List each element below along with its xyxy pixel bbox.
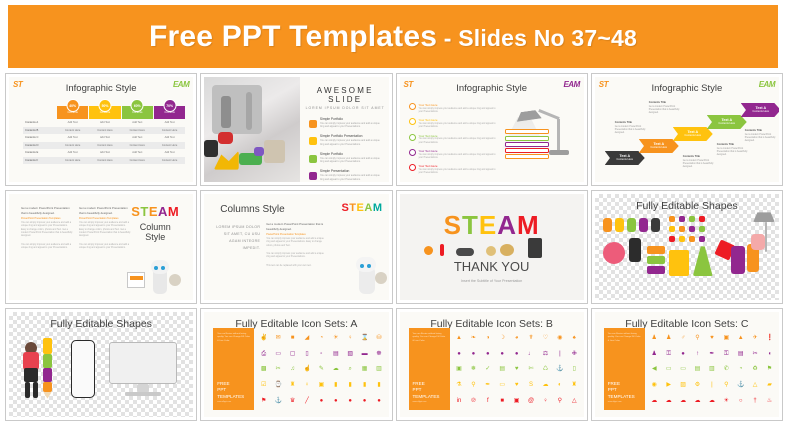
infographic-table: 40%Contents 50%Contents 60%Contents 70%C… xyxy=(23,99,185,164)
icon-row: in℗f■▣@♀⚲△ xyxy=(456,393,578,409)
icon-glyph: ▮ xyxy=(361,382,368,389)
icon-glyph: ↑ xyxy=(694,351,701,358)
icon-glyph: ✆ xyxy=(723,366,730,373)
table-row: Contents AAdd TextAdd TextAdd TextAdd Te… xyxy=(23,119,185,127)
icon-glyph: ✈ xyxy=(752,335,759,342)
slide-canvas-1: ST EAM Infographic Style 40%Contents 50%… xyxy=(9,77,193,182)
icon-row: ◉▶▨⚙❘⚲⚓△▰ xyxy=(651,378,773,394)
icon-glyph: in xyxy=(456,398,463,405)
free-ppt-panel: You can Resize without losing quality. Y… xyxy=(604,328,645,410)
icon-glyph: ⚲ xyxy=(723,382,730,389)
slide-thumbnail-3[interactable]: ST EAM Infographic Style Your Text HereY… xyxy=(396,73,588,186)
book-stack-icon xyxy=(505,129,549,160)
bullet-icon xyxy=(409,164,416,171)
icon-glyph: ✎ xyxy=(318,366,325,373)
panel-brand: FREE PPT TEMPLATES www.allppt.com xyxy=(217,381,244,404)
icon-glyph: ▯ xyxy=(571,366,578,373)
table-row: Contents EAdd TextAdd TextAdd TextAdd Te… xyxy=(23,149,185,157)
icon-glyph: ▥ xyxy=(708,366,715,373)
slide-thumbnail-9[interactable]: Fully Editable Shapes xyxy=(5,308,197,421)
table-row: Contents BContent HereContent HereConten… xyxy=(23,127,185,135)
icon-glyph: ⚿ xyxy=(665,351,672,358)
icon-glyph: ♀ xyxy=(542,398,549,405)
slide-canvas-12: Fully Editable Icon Sets: C You can Resi… xyxy=(595,312,779,417)
step-note: Contents TitleGet a modern PowerPoint Pr… xyxy=(649,101,685,115)
icon-glyph: ◔ xyxy=(737,366,744,373)
bullet-icon xyxy=(409,118,416,125)
process-step: Text AContents Here xyxy=(741,103,779,117)
list-item: Your Text HereYou can simply impress you… xyxy=(409,103,497,114)
feature-icon xyxy=(309,120,317,128)
list-item: Simple PortfolioYou can simply impress y… xyxy=(309,152,382,164)
icon-glyph: ♛ xyxy=(289,398,296,405)
process-step: Text AContents Here xyxy=(707,115,747,129)
steam-wordmark-3d: STEAM xyxy=(400,210,584,241)
icon-glyph: ⚑ xyxy=(260,398,267,405)
icon-glyph: ⚑ xyxy=(766,366,773,373)
icon-glyph: ❘ xyxy=(708,382,715,389)
bullet-icon xyxy=(409,103,416,110)
icon-row: ⎙▭▢▯▫▤▧▬☸ xyxy=(260,346,382,362)
list-item: Your Text HereYou can simply impress you… xyxy=(409,134,497,145)
icon-glyph: ♥ xyxy=(513,382,520,389)
icon-glyph: ● xyxy=(470,351,477,358)
table-column-header: 40%Contents xyxy=(57,106,88,119)
process-step: Text AContents Here xyxy=(605,151,645,165)
icon-glyph: ☝ xyxy=(303,366,310,373)
icon-glyph: ♠ xyxy=(571,335,578,342)
icon-glyph: ✙ xyxy=(571,351,578,358)
page-root: Free PPT Templates - Slides No 37~48 ST … xyxy=(0,0,786,423)
slide-title: Columns Style xyxy=(220,204,284,215)
table-header-row: 40%Contents 50%Contents 60%Contents 70%C… xyxy=(57,99,185,119)
icon-glyph: ◕ xyxy=(513,335,520,342)
icon-glyph: ▣ xyxy=(723,335,730,342)
icon-grid: ♟♟♂⚲♥▣▲✈❗ ♟⚿●↑✒⚿▤✂◖ ◀▭▭▤▥✆◔♻⚑ ◉▶▨⚙❘⚲⚓△▰ … xyxy=(651,331,773,409)
icon-glyph: △ xyxy=(752,382,759,389)
icon-glyph: ☁ xyxy=(651,398,658,405)
thank-you-text: THANK YOU xyxy=(400,259,584,274)
icon-glyph: ♺ xyxy=(542,366,549,373)
slide-canvas-7: STEAM THANK YOU Insert the Subtitle of Y… xyxy=(400,194,584,299)
icon-glyph: ▬ xyxy=(361,351,368,358)
slide-thumbnail-8[interactable]: Fully Editable Shapes xyxy=(591,190,783,303)
icon-glyph: ♜ xyxy=(571,382,578,389)
icon-glyph: ▤ xyxy=(694,366,701,373)
slide-title: AWESOME SLIDE xyxy=(302,86,389,104)
table-row: Contents FContent HereContent HereConten… xyxy=(23,157,185,165)
icon-glyph: ◐ xyxy=(556,382,563,389)
icon-glyph: ❗ xyxy=(766,335,773,342)
icon-glyph: ♟ xyxy=(651,335,658,342)
bullet-icon xyxy=(409,149,416,156)
icon-glyph: ▲ xyxy=(737,335,744,342)
icon-glyph: ▭ xyxy=(275,351,282,358)
text-column-1: Get a modern PowerPoint Presentation tha… xyxy=(21,206,73,250)
heading-line-1: Column xyxy=(123,222,187,232)
icon-glyph: ⛁ xyxy=(376,335,383,342)
icon-glyph: ▭ xyxy=(665,366,672,373)
panel-note: You can Resize without losing quality. Y… xyxy=(213,328,254,344)
steam-heading-block: STEAM Column Style xyxy=(123,204,187,242)
icon-glyph: ● xyxy=(318,398,325,405)
slide-thumbnail-11[interactable]: Fully Editable Icon Sets: B You can Resi… xyxy=(396,308,588,421)
icon-row: ◀▭▭▤▥✆◔♻⚑ xyxy=(651,362,773,378)
icon-glyph: ● xyxy=(456,351,463,358)
icon-glyph: ♥ xyxy=(708,335,715,342)
icon-row: ⚑⚓♛╱●●●●● xyxy=(260,393,382,409)
icon-glyph: ▥ xyxy=(376,366,383,373)
icon-row: ♟♟♂⚲♥▣▲✈❗ xyxy=(651,331,773,347)
icon-row: ▣❅✓▤♥✄♺⚓▯ xyxy=(456,362,578,378)
icon-glyph: ▢ xyxy=(289,351,296,358)
banner-title-sub: - Slides No 37~48 xyxy=(437,25,637,51)
icon-glyph: ▭ xyxy=(499,382,506,389)
slide-title: Infographic Style xyxy=(400,83,584,94)
icon-glyph: ♀ xyxy=(303,382,310,389)
icon-glyph: ☤ xyxy=(528,335,535,342)
icon-glyph: ▣ xyxy=(318,382,325,389)
icon-glyph: ◑ xyxy=(484,335,491,342)
icon-glyph: ● xyxy=(513,351,520,358)
icon-glyph: ❅ xyxy=(470,366,477,373)
banner-title: Free PPT Templates - Slides No 37~48 xyxy=(149,20,637,54)
icon-glyph: ⚓ xyxy=(275,398,282,405)
icon-glyph: f xyxy=(484,398,491,405)
icon-glyph: ⎙ xyxy=(260,351,267,358)
panel-note: You can Resize without losing quality. Y… xyxy=(604,328,645,344)
icon-glyph: ■ xyxy=(289,335,296,342)
panel-brand: FREE PPT TEMPLATES www.allppt.com xyxy=(608,381,635,404)
icon-glyph: ☁ xyxy=(708,398,715,405)
table-column-header: 50%Contents xyxy=(89,106,120,119)
icon-glyph: ▭ xyxy=(680,366,687,373)
slides-grid: ST EAM Infographic Style 40%Contents 50%… xyxy=(5,73,783,421)
icon-glyph: ⚲ xyxy=(556,398,563,405)
icon-glyph: ▰ xyxy=(766,382,773,389)
body-column: Get a modern PowerPoint Presentation tha… xyxy=(266,222,324,268)
free-ppt-panel: You can Resize without losing quality. Y… xyxy=(213,328,254,410)
icon-glyph: ✌ xyxy=(260,335,267,342)
icon-glyph: ♡ xyxy=(542,335,549,342)
icon-glyph: ● xyxy=(484,351,491,358)
icon-glyph: ♀ xyxy=(347,335,354,342)
table-row: Contents DContent HereContent HereConten… xyxy=(23,142,185,150)
icon-grid: ▲❧◑☽◕☤♡◉♠ ●●●●●♩⚖❘✙ ▣❅✓▤♥✄♺⚓▯ ⚗⚲✒▭♥S☁◐♜ … xyxy=(456,331,578,409)
thank-you-subtitle: Insert the Subtitle of Your Presentation xyxy=(400,279,584,283)
slide-canvas-9: Fully Editable Shapes xyxy=(9,312,193,417)
icon-glyph: ▤ xyxy=(737,351,744,358)
icon-glyph: ◀ xyxy=(651,366,658,373)
icon-glyph: ▤ xyxy=(499,366,506,373)
icon-row: ▲❧◑☽◕☤♡◉♠ xyxy=(456,331,578,347)
icon-glyph: ● xyxy=(499,351,506,358)
icon-glyph: ☁ xyxy=(332,366,339,373)
lamp-pole xyxy=(557,119,560,152)
icon-glyph: ℗ xyxy=(470,398,477,405)
icon-glyph: S xyxy=(528,382,535,389)
process-step: Text AContents Here xyxy=(673,127,713,141)
icon-glyph: ✂ xyxy=(752,351,759,358)
icon-glyph: ☁ xyxy=(694,398,701,405)
icon-glyph: ▮ xyxy=(376,382,383,389)
lead-text: LOREM IPSUM DOLOR SIT AMET, CU USU AGAM … xyxy=(212,224,260,251)
icon-glyph: ■ xyxy=(499,398,506,405)
slide-canvas-2: AWESOME SLIDE LOREM IPSUM DOLOR SIT AMET… xyxy=(204,77,388,182)
icon-glyph: ♟ xyxy=(651,351,658,358)
icon-glyph: ▣ xyxy=(456,366,463,373)
icon-glyph: ○ xyxy=(737,398,744,405)
slide-subtitle: LOREM IPSUM DOLOR SIT AMET xyxy=(302,106,389,110)
icon-row: ♟⚿●↑✒⚿▤✂◖ xyxy=(651,346,773,362)
slide-canvas-5: Get a modern PowerPoint Presentation tha… xyxy=(9,194,193,299)
list-item: Simple PortfolioYou can simply impress y… xyxy=(309,117,382,129)
icon-row: ☁☁☁☁☁☀○†♨ xyxy=(651,393,773,409)
icon-glyph: ⚲ xyxy=(694,335,701,342)
slide-thumbnail-6[interactable]: Columns Style STEAM LOREM IPSUM DOLOR SI… xyxy=(200,190,392,303)
icon-row: ☑⌚♜♀▣▮▮▮▮ xyxy=(260,378,382,394)
icon-glyph: ☀ xyxy=(723,398,730,405)
table-row: Contents CAdd TextAdd TextAdd TextAdd Te… xyxy=(23,134,185,142)
table-column-header: 70%Contents xyxy=(154,106,185,119)
icon-glyph: ⌚ xyxy=(275,382,282,389)
icon-row: ⚗⚲✒▭♥S☁◐♜ xyxy=(456,378,578,394)
icon-row: ●●●●●♩⚖❘✙ xyxy=(456,346,578,362)
step-note: Contents TitleGet a modern PowerPoint Pr… xyxy=(745,129,779,143)
icon-glyph: ⚓ xyxy=(737,382,744,389)
slide-title: Infographic Style xyxy=(595,83,779,94)
panel-note: You can Resize without losing quality. Y… xyxy=(409,328,450,344)
printer-photo xyxy=(204,77,300,182)
icon-glyph: ☽ xyxy=(499,335,506,342)
icon-glyph: ✒ xyxy=(484,382,491,389)
icon-glyph: ♂ xyxy=(680,335,687,342)
icon-glyph: ● xyxy=(680,351,687,358)
icon-row: ▩✂♫☝✎☁⌕▦▥ xyxy=(260,362,382,378)
slide-thumbnail-2[interactable]: AWESOME SLIDE LOREM IPSUM DOLOR SIT AMET… xyxy=(200,73,392,186)
list-item: Your Text HereYou can simply impress you… xyxy=(409,164,497,175)
icon-glyph: ◉ xyxy=(651,382,658,389)
icon-glyph: ▯ xyxy=(303,351,310,358)
icon-glyph: ✓ xyxy=(484,366,491,373)
process-step: Text AContents Here xyxy=(639,139,679,153)
icon-glyph: ▩ xyxy=(260,366,267,373)
icon-glyph: ♩ xyxy=(528,351,535,358)
slide-thumbnail-5[interactable]: Get a modern PowerPoint Presentation tha… xyxy=(5,190,197,303)
slide-title: Fully Editable Shapes xyxy=(595,200,779,212)
icon-glyph: ◉ xyxy=(556,335,563,342)
icon-glyph: ● xyxy=(347,398,354,405)
feature-icon xyxy=(309,172,317,180)
icon-glyph: ❘ xyxy=(556,351,563,358)
icon-glyph: ◖ xyxy=(766,351,773,358)
panel-brand: FREE PPT TEMPLATES www.allppt.com xyxy=(413,381,440,404)
bullet-icon xyxy=(409,134,416,141)
icon-glyph: ✄ xyxy=(528,366,535,373)
slide-thumbnail-1[interactable]: ST EAM Infographic Style 40%Contents 50%… xyxy=(5,73,197,186)
step-note: Contents TitleGet a modern PowerPoint Pr… xyxy=(717,143,753,157)
slide-canvas-6: Columns Style STEAM LOREM IPSUM DOLOR SI… xyxy=(204,194,388,299)
icon-glyph: ▲ xyxy=(456,335,463,342)
icon-glyph: @ xyxy=(528,398,535,405)
lamp-base xyxy=(549,150,569,155)
list-item: Simple PresentationYou can simply impres… xyxy=(309,169,382,181)
icon-row: ✌✉■◢◔☀♀⌛⛁ xyxy=(260,331,382,347)
slide-thumbnail-4[interactable]: ST EAM Infographic Style Text AContents … xyxy=(591,73,783,186)
icon-glyph: ✉ xyxy=(275,335,282,342)
icon-glyph: ⌕ xyxy=(347,366,354,373)
icon-glyph: ● xyxy=(332,398,339,405)
icon-glyph: ☸ xyxy=(376,351,383,358)
icon-glyph: ● xyxy=(361,398,368,405)
icon-glyph: ☁ xyxy=(680,398,687,405)
icon-glyph: ⚿ xyxy=(723,351,730,358)
icon-glyph: † xyxy=(752,398,759,405)
icon-glyph: ⌛ xyxy=(361,335,368,342)
icon-glyph: ╱ xyxy=(303,398,310,405)
icon-glyph: ◔ xyxy=(318,335,325,342)
icon-glyph: ● xyxy=(376,398,383,405)
icon-glyph: ▤ xyxy=(332,351,339,358)
awesome-slide-pane: AWESOME SLIDE LOREM IPSUM DOLOR SIT AMET… xyxy=(302,77,389,182)
icon-glyph: ▶ xyxy=(665,382,672,389)
feature-icon xyxy=(309,137,317,145)
icon-glyph: ♜ xyxy=(289,382,296,389)
slide-canvas-11: Fully Editable Icon Sets: B You can Resi… xyxy=(400,312,584,417)
slide-canvas-3: ST EAM Infographic Style Your Text HereY… xyxy=(400,77,584,182)
icon-glyph: ♟ xyxy=(665,335,672,342)
slide-thumbnail-7[interactable]: STEAM THANK YOU Insert the Subtitle of Y… xyxy=(396,190,588,303)
icon-glyph: ♻ xyxy=(752,366,759,373)
icon-glyph: ☑ xyxy=(260,382,267,389)
list-item: Your Text HereYou can simply impress you… xyxy=(409,149,497,160)
icon-glyph: ♫ xyxy=(289,366,296,373)
icon-glyph: ◢ xyxy=(303,335,310,342)
icon-glyph: ♥ xyxy=(513,366,520,373)
bullet-list: Your Text HereYou can simply impress you… xyxy=(409,103,497,180)
icon-glyph: ⚖ xyxy=(542,351,549,358)
slide-thumbnail-12[interactable]: Fully Editable Icon Sets: C You can Resi… xyxy=(591,308,783,421)
steam-wordmark: STEAM xyxy=(123,204,187,219)
icon-glyph: ▨ xyxy=(680,382,687,389)
slide-canvas-8: Fully Editable Shapes xyxy=(595,194,779,299)
icon-glyph: ⚓ xyxy=(556,366,563,373)
icon-grid: ✌✉■◢◔☀♀⌛⛁ ⎙▭▢▯▫▤▧▬☸ ▩✂♫☝✎☁⌕▦▥ ☑⌚♜♀▣▮▮▮▮ … xyxy=(260,331,382,409)
icon-glyph: ♨ xyxy=(766,398,773,405)
list-item: Simple Portfolio PresentationYou can sim… xyxy=(309,134,382,146)
icon-glyph: ⚗ xyxy=(456,382,463,389)
icon-glyph: ▮ xyxy=(347,382,354,389)
slide-canvas-10: Fully Editable Icon Sets: A You can Resi… xyxy=(204,312,388,417)
icon-glyph: ❧ xyxy=(470,335,477,342)
banner-title-main: Free PPT Templates xyxy=(149,20,437,53)
icon-glyph: ▫ xyxy=(318,351,325,358)
slide-canvas-4: ST EAM Infographic Style Text AContents … xyxy=(595,77,779,182)
icon-glyph: ▣ xyxy=(513,398,520,405)
icon-glyph: ▮ xyxy=(332,382,339,389)
slide-title: Infographic Style xyxy=(9,83,193,94)
icon-glyph: ☀ xyxy=(332,335,339,342)
list-item: Your Text HereYou can simply impress you… xyxy=(409,118,497,129)
icon-glyph: ▧ xyxy=(347,351,354,358)
icon-glyph: ⚙ xyxy=(694,382,701,389)
icon-glyph: ✒ xyxy=(708,351,715,358)
icon-glyph: ▦ xyxy=(361,366,368,373)
icon-glyph: ☁ xyxy=(665,398,672,405)
slide-thumbnail-10[interactable]: Fully Editable Icon Sets: A You can Resi… xyxy=(200,308,392,421)
feature-list: Simple PortfolioYou can simply impress y… xyxy=(302,117,389,182)
step-note: Contents TitleGet a modern PowerPoint Pr… xyxy=(683,155,719,169)
desk-lamp-illustration xyxy=(491,99,576,164)
icon-glyph: ✂ xyxy=(275,366,282,373)
steam-wordmark: STEAM xyxy=(341,202,382,214)
icon-glyph: ☁ xyxy=(542,382,549,389)
table-column-header: 60%Contents xyxy=(122,106,153,119)
header-banner: Free PPT Templates - Slides No 37~48 xyxy=(8,5,778,68)
slide-title: Fully Editable Shapes xyxy=(9,318,193,330)
heading-line-2: Style xyxy=(123,232,187,242)
free-ppt-panel: You can Resize without losing quality. Y… xyxy=(409,328,450,410)
feature-icon xyxy=(309,155,317,163)
step-note: Contents TitleGet a modern PowerPoint Pr… xyxy=(615,121,651,135)
icon-glyph: ⚲ xyxy=(470,382,477,389)
icon-glyph: △ xyxy=(571,398,578,405)
